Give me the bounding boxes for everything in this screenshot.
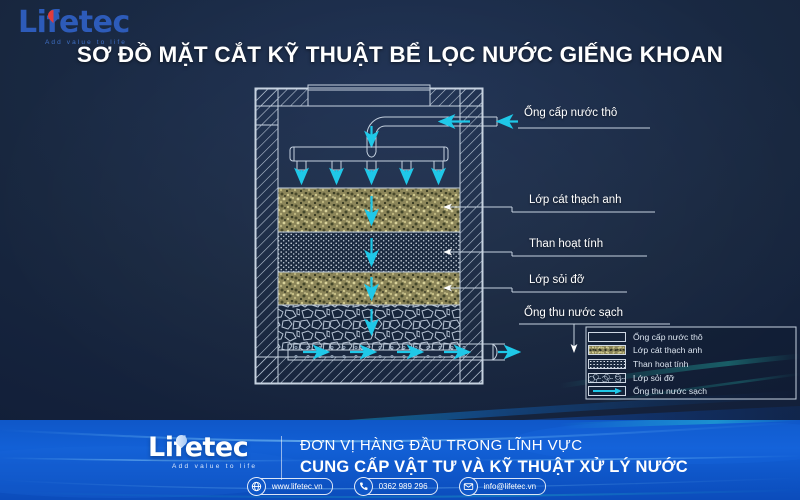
callout-support-gravel-layer: Lớp sỏi đỡ [529,274,584,286]
legend-label: Ống thu nước sạch [633,386,707,396]
legend-item-quartz-sand-layer: Lớp cát thạch anh [588,344,794,358]
callout-clean-water-outlet-pipe: Ống thu nước sạch [524,307,623,319]
callout-raw-water-inlet-pipe: Ống cấp nước thô [524,107,617,119]
callout-activated-carbon-layer: Than hoạt tính [529,238,603,250]
contact-email[interactable]: info@lifetec.vn [466,478,547,495]
contact-website[interactable]: www.lifetec.vn [254,478,333,495]
brand-name: Lifetec [148,434,268,461]
legend-swatch-gravel-icon [588,373,626,383]
legend-swatch-flow-arrow-icon [588,386,626,396]
legend-item-raw-water-inlet-pipe: Ống cấp nước thô [588,330,794,344]
footer-logo: Lifetec Add value to life [148,434,268,470]
contact-text: 0362 989 296 [379,482,428,491]
contact-phone[interactable]: 0362 989 296 [361,478,438,495]
footer-banner: Lifetec Add value to life ĐƠN VỊ HÀNG ĐẦ… [0,420,800,500]
contact-text: info@lifetec.vn [484,482,537,491]
footer-contacts: www.lifetec.vn 0362 989 296 info@life [0,478,800,495]
footer-divider [281,436,282,480]
callout-quartz-sand-layer: Lớp cát thạch anh [529,194,622,206]
legend-item-clean-water-outlet-pipe: Ống thu nước sạch [588,384,794,398]
contact-text: www.lifetec.vn [272,482,323,491]
footer-headline-2: CUNG CẤP VẬT TƯ VÀ KỸ THUẬT XỬ LÝ NƯỚC [300,458,688,477]
legend-label: Lớp cát thạch anh [633,345,702,355]
brand-tagline: Add value to life [172,463,268,470]
legend-item-support-gravel-layer: Lớp sỏi đỡ [588,371,794,385]
envelope-icon [459,477,478,496]
legend-label: Lớp sỏi đỡ [633,373,674,383]
legend-swatch-pipe-icon [588,332,626,342]
legend-label: Ống cấp nước thô [633,332,703,342]
legend-label: Than hoạt tính [633,359,688,369]
phone-icon [354,477,373,496]
legend: Ống cấp nước thô Lớp cát thạch anh Than … [588,330,794,398]
legend-swatch-carbon-icon [588,359,626,369]
legend-swatch-sand-icon [588,345,626,355]
globe-icon [247,477,266,496]
footer-headline-1: ĐƠN VỊ HÀNG ĐẦU TRONG LĨNH VỰC [300,437,582,454]
legend-item-activated-carbon-layer: Than hoạt tính [588,357,794,371]
